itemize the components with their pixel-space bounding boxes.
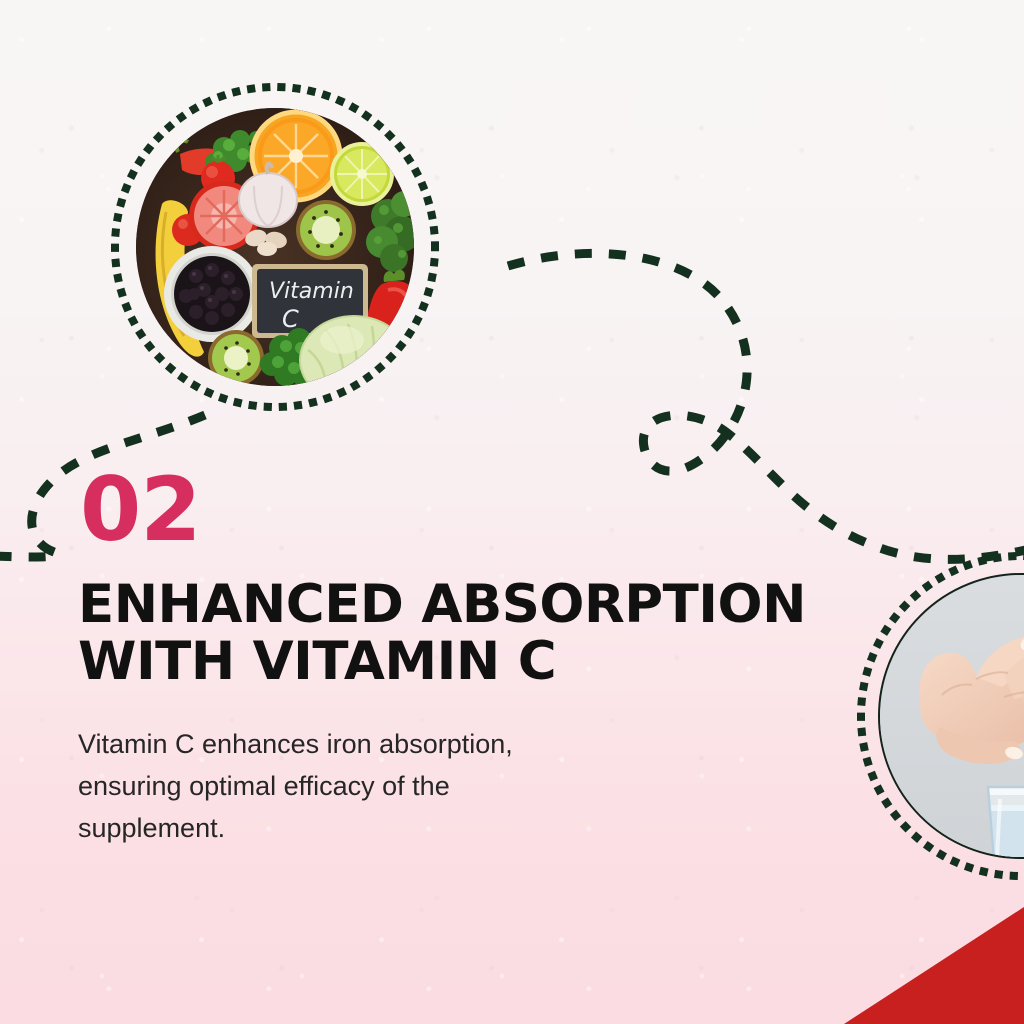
page-title: ENHANCED ABSORPTION WITH VITAMIN C [78,577,858,690]
body-line-1: Vitamin C enhances iron absorption, [78,724,618,766]
svg-text:Vitamin: Vitamin [269,279,354,304]
text-content-block: 02 ENHANCED ABSORPTION WITH VITAMIN C Vi… [78,470,868,850]
vitamin-c-foods-photo: Vitamin C [136,108,414,386]
step-number: 02 [80,470,868,551]
headline-line-1: ENHANCED ABSORPTION [78,577,858,634]
pill-circle-group [856,551,1024,881]
body-line-2: ensuring optimal efficacy of the [78,766,618,808]
slide-canvas: Vitamin C [0,0,1024,1024]
body-line-3: supplement. [78,808,618,850]
body-description: Vitamin C enhances iron absorption, ensu… [78,724,618,850]
food-circle-group: Vitamin C [110,82,440,412]
red-corner-wedge [844,874,1024,1024]
headline-line-2: WITH VITAMIN C [78,634,858,691]
